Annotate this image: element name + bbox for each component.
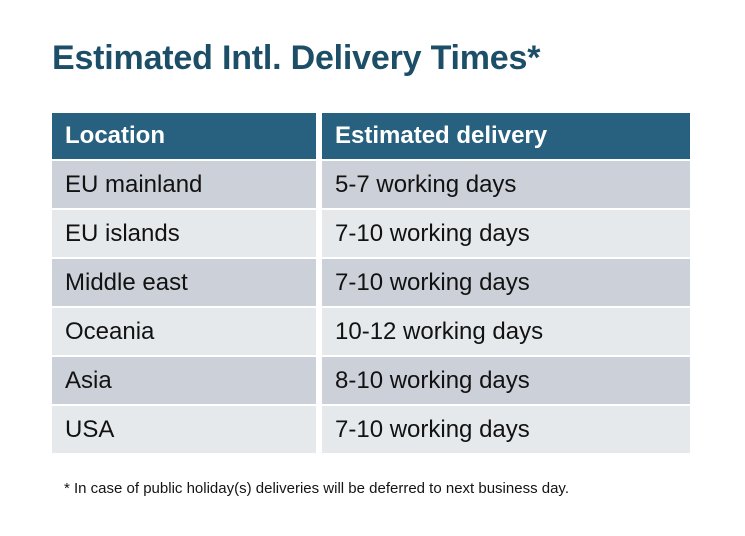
cell-location: EU islands: [52, 210, 316, 257]
cell-delivery: 8-10 working days: [322, 357, 690, 404]
table-row: Asia 8-10 working days: [52, 357, 690, 404]
table-header-row: Location Estimated delivery: [52, 113, 690, 159]
cell-location: Middle east: [52, 259, 316, 306]
table-row: EU islands 7-10 working days: [52, 210, 690, 257]
cell-delivery: 7-10 working days: [322, 259, 690, 306]
delivery-times-table: Location Estimated delivery EU mainland …: [52, 113, 690, 453]
cell-delivery: 7-10 working days: [322, 210, 690, 257]
table-row: Middle east 7-10 working days: [52, 259, 690, 306]
cell-delivery: 10-12 working days: [322, 308, 690, 355]
footnote-text: * In case of public holiday(s) deliverie…: [64, 479, 569, 499]
cell-location: Asia: [52, 357, 316, 404]
cell-delivery: 7-10 working days: [322, 406, 690, 453]
cell-location: USA: [52, 406, 316, 453]
table-row: EU mainland 5-7 working days: [52, 161, 690, 208]
page-title: Estimated Intl. Delivery Times*: [52, 36, 540, 80]
table-row: USA 7-10 working days: [52, 406, 690, 453]
delivery-times-page: Estimated Intl. Delivery Times* Location…: [0, 0, 745, 536]
column-header-location: Location: [52, 113, 316, 159]
cell-location: EU mainland: [52, 161, 316, 208]
table-row: Oceania 10-12 working days: [52, 308, 690, 355]
cell-location: Oceania: [52, 308, 316, 355]
column-header-estimated-delivery: Estimated delivery: [322, 113, 690, 159]
cell-delivery: 5-7 working days: [322, 161, 690, 208]
